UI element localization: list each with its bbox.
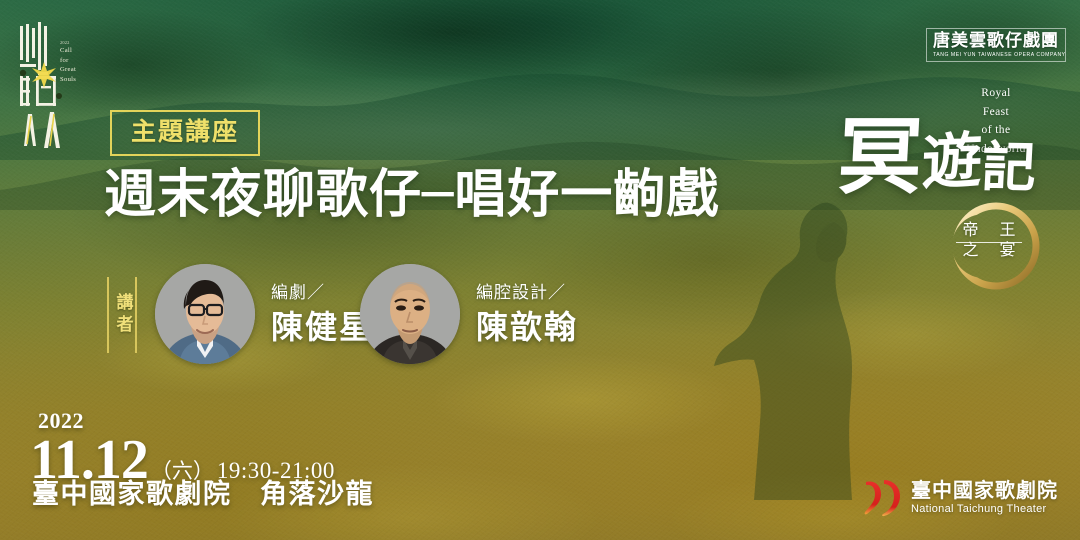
speaker-name: 陳健星 [271,311,373,343]
venue-logo-text: 臺中國家歌劇院 National Taichung Theater [911,480,1058,515]
speakers-label-text: 講者 [111,293,134,337]
moon-char-2: 王 [993,222,1022,238]
crescent-moon-emblem: 帝 王 之 宴 [950,200,1042,292]
campaign-logo-en-line3: Great [60,65,90,75]
show-title-cn: 冥 遊 記 [838,118,1036,195]
company-logo-cn: 唐美雲歌仔戲團 [933,33,1059,50]
campaign-logo-year: 2022 [60,40,90,46]
topic-badge-label: 主題講座 [131,117,239,146]
event-poster: 2022 Call for Great Souls 唐美雲歌仔戲團 TANG M… [0,0,1080,540]
show-title-char-2: 遊 [921,131,983,193]
venue-logo-en: National Taichung Theater [911,504,1058,515]
crescent-moon-chars: 帝 王 之 宴 [956,222,1022,258]
show-title-en-line1: Royal [950,84,1042,103]
speaker-photo-chen-chien-hsing [155,264,255,364]
speaker-role: 編腔設計／ [476,285,578,302]
speakers-label-bar-right [135,277,137,353]
speaker-role: 編劇／ [271,285,373,302]
moon-char-3: 之 [956,242,985,258]
page-title: 週末夜聊歌仔─唱好一齣戲 [104,168,719,223]
speakers-label-bar-left [107,277,109,353]
moon-divider [956,242,1022,243]
speaker-name: 陳歆翰 [476,311,578,343]
speaker-entry: 編劇／ 陳健星 [155,264,373,364]
speakers-label: 講者 [104,277,140,353]
company-logo-en: TANG MEI YUN TAIWANESE OPERA COMPANY [933,53,1059,58]
show-title-char-3: 記 [981,140,1038,195]
speaker-entry: 編腔設計／ 陳歆翰 [360,264,578,364]
venue-logo-cn: 臺中國家歌劇院 [911,480,1058,500]
venue-logo: 臺中國家歌劇院 National Taichung Theater [864,476,1058,518]
show-title-char-1: 冥 [836,118,924,195]
campaign-logo-english: 2022 Call for Great Souls [60,40,90,85]
topic-badge: 主題講座 [110,110,260,156]
speaker-info: 編劇／ 陳健星 [271,285,373,343]
moon-char-1: 帝 [956,222,985,238]
campaign-logo-en-line2: for [60,56,90,66]
company-logo: 唐美雲歌仔戲團 TANG MEI YUN TAIWANESE OPERA COM… [926,28,1066,62]
speaker-info: 編腔設計／ 陳歆翰 [476,285,578,343]
opera-character-silhouette [702,200,952,500]
campaign-logo: 2022 Call for Great Souls [14,18,86,150]
national-taichung-theater-icon [864,476,902,518]
campaign-logo-en-line1: Call [60,46,90,56]
speaker-photo-chen-hsin-han [360,264,460,364]
moon-char-4: 宴 [993,242,1022,258]
event-venue: 臺中國家歌劇院 角落沙龍 [32,481,374,508]
campaign-logo-en-line4: Souls [60,75,90,85]
